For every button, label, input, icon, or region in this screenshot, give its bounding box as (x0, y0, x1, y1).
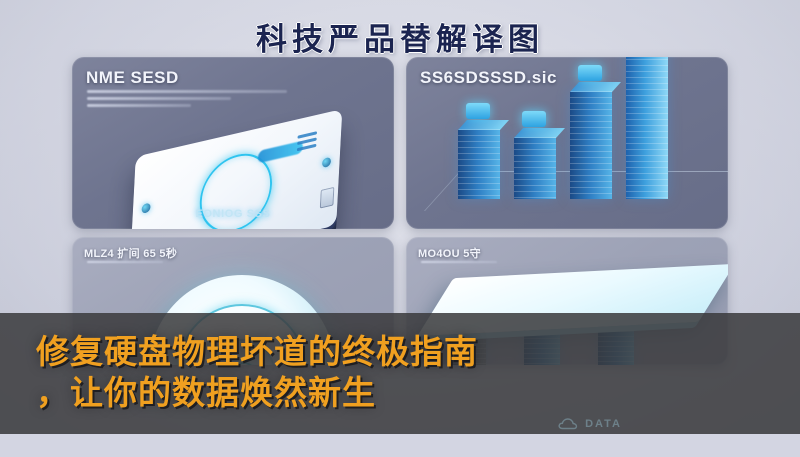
card-nvme-ssd[interactable]: NME SESD E (72, 57, 394, 229)
card-ssd-capacity-chart[interactable]: SS6SDSSSD.sic (406, 57, 728, 229)
blur-text-line (87, 104, 191, 107)
card-title: SS6SDSSSD.sic (420, 68, 557, 88)
article-title: 修复硬盘物理坏道的终极指南 ，让你的数据焕然新生 (0, 313, 800, 434)
blur-text-line (421, 261, 497, 263)
blur-text-line (87, 261, 163, 263)
chart-bar (626, 57, 668, 199)
watermark-text: DATA (585, 418, 622, 430)
chart-bar (458, 129, 500, 199)
cloud-icon (558, 417, 578, 430)
card-grid: NME SESD E (72, 57, 728, 357)
card-subtext-placeholder (421, 261, 621, 266)
blur-text-line (87, 97, 231, 100)
chart-bar (514, 137, 556, 199)
screw-icon (322, 157, 331, 168)
ssd-indicator-bars (297, 131, 317, 154)
card-subtext-placeholder (87, 261, 287, 266)
watermark: DATA (558, 417, 622, 430)
card-title: MLZ4 扩间 65 5秒 (84, 245, 177, 261)
poster-heading: 科技严品替解译图 (0, 14, 800, 59)
screenshot-stage: 科技严品替解译图 NME SESD (0, 0, 800, 457)
blur-text-line (87, 90, 287, 93)
card-caption: EONIOG SSS (72, 208, 394, 220)
card-subtext-placeholder (87, 90, 287, 111)
card-title: NME SESD (86, 68, 179, 88)
chart-bar (570, 91, 612, 199)
bottom-strip (0, 434, 800, 457)
card-title: MO4OU 5守 (418, 245, 481, 261)
sata-connector (320, 187, 335, 209)
